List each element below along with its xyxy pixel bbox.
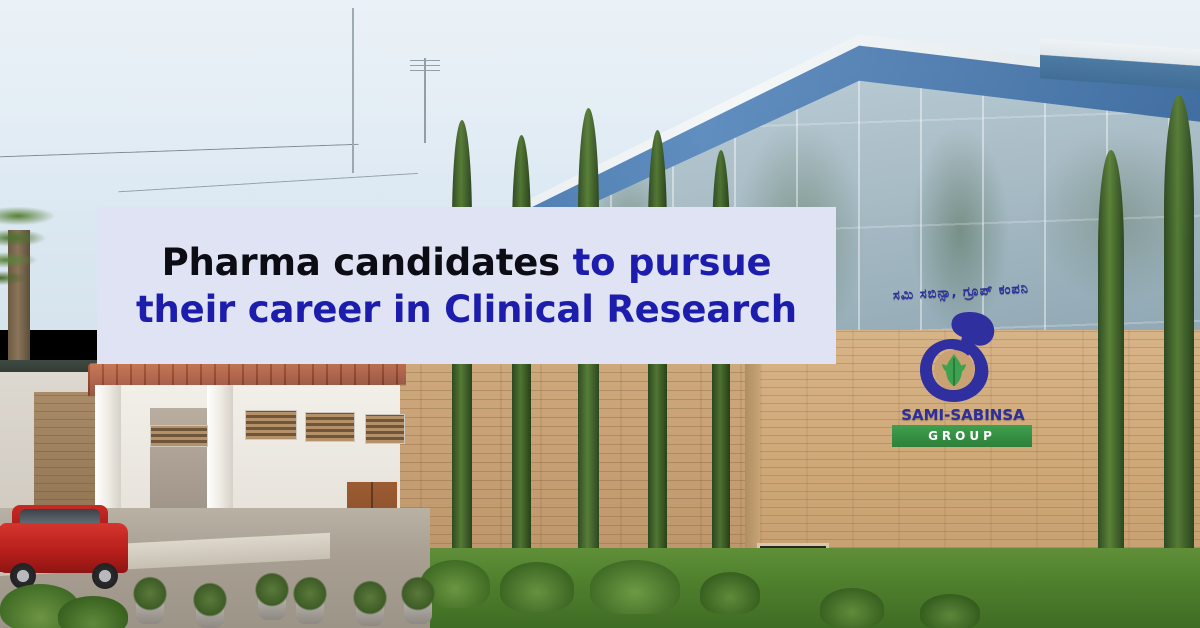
hedge-shrub	[820, 588, 884, 628]
kannada-script-text: ಸಮಿ ಸಬಿನ್ಸಾ, ಗ್ರೂಪ್ ಕಂಪನಿ	[866, 277, 1057, 309]
hedge-shrub	[500, 562, 574, 612]
sami-sabinsa-logo-icon	[914, 308, 1006, 404]
company-name-text: SAMI-SABINSA	[878, 406, 1048, 424]
wall-grille	[245, 410, 297, 440]
wall-grille	[305, 412, 355, 442]
ground-foliage	[58, 596, 128, 628]
headline-banner: Pharma candidates to pursue their career…	[97, 207, 836, 364]
cypress-tree	[1098, 150, 1124, 610]
headline-black-text: Pharma candidates	[162, 241, 573, 284]
potted-plant	[288, 566, 332, 612]
wall-grille	[365, 414, 405, 444]
potted-plant	[128, 566, 172, 612]
group-badge: GROUP	[892, 425, 1032, 447]
hedge-shrub	[920, 594, 980, 628]
potted-plant	[348, 570, 392, 616]
hedge-shrub	[700, 572, 760, 614]
sami-sabinsa-signage: ಸಮಿ ಸಬಿನ್ಸಾ, ಗ್ರೂಪ್ ಕಂಪನಿ SAMI-SABINSA G…	[866, 282, 1056, 462]
red-suv	[0, 505, 135, 600]
wall-grille	[150, 425, 208, 447]
flag-pole	[352, 8, 354, 173]
potted-plant	[188, 572, 232, 618]
headline-blue-text-1: to pursue	[573, 241, 772, 284]
potted-plant	[396, 566, 440, 612]
hedge-shrub	[590, 560, 680, 614]
screenshot-root: SAMI LABS LIMITED A Unit of Sami-Sabinsa…	[0, 0, 1200, 628]
tv-antenna	[424, 58, 426, 143]
headline-line-2: their career in Clinical Research	[136, 286, 797, 333]
headline-line-1: Pharma candidates to pursue	[162, 239, 772, 286]
palm-crown	[0, 180, 110, 300]
cypress-tree	[1164, 95, 1194, 615]
suv-wheel	[92, 563, 118, 589]
